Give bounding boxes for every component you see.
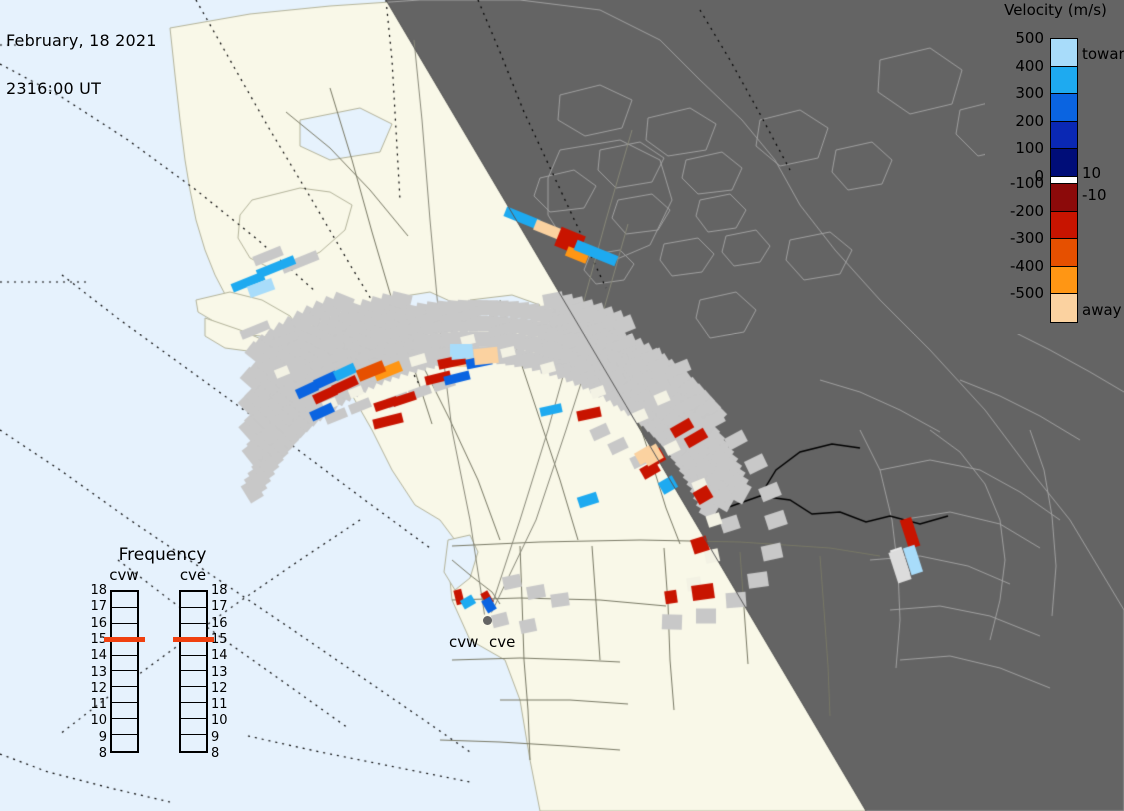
frequency-gauge-segment: [112, 640, 137, 656]
velocity-tick-label: -300: [1010, 231, 1044, 246]
velocity-inner-high-label: 10: [1082, 166, 1101, 181]
velocity-color-band: [1051, 149, 1077, 177]
frequency-gauge-segment: [181, 640, 206, 656]
frequency-gauge-segment: [181, 592, 206, 608]
velocity-tick-label: -500: [1010, 286, 1044, 301]
frequency-scale-tick: 17: [211, 600, 228, 613]
frequency-gauge-segment: [181, 735, 206, 751]
frequency-gauge-segment: [181, 656, 206, 672]
velocity-color-band: [1051, 39, 1077, 67]
frequency-gauge-segment: [181, 719, 206, 735]
velocity-tick-label: 200: [1015, 114, 1044, 129]
frequency-scale-tick: 13: [90, 666, 107, 679]
frequency-scale-tick: 13: [211, 666, 228, 679]
frequency-scale-tick: 8: [99, 747, 107, 760]
timestamp-date: February, 18 2021: [6, 33, 157, 49]
velocity-color-band: [1051, 212, 1077, 240]
frequency-scale-tick: 8: [211, 747, 219, 760]
frequency-scale-tick: 17: [90, 600, 107, 613]
frequency-scale-tick: 11: [211, 698, 228, 711]
frequency-gauge-segment: [181, 703, 206, 719]
frequency-gauge-segment: [112, 592, 137, 608]
velocity-color-band: [1051, 184, 1077, 212]
frequency-gauge-label-cvw: cvw: [101, 568, 147, 583]
frequency-scale-tick: 11: [90, 698, 107, 711]
frequency-scale-tick: 14: [90, 649, 107, 662]
velocity-color-band: [1051, 122, 1077, 150]
velocity-color-band: [1051, 67, 1077, 95]
velocity-color-band: [1051, 294, 1077, 322]
velocity-away-label: away: [1082, 303, 1122, 318]
velocity-tick-label: 500: [1015, 31, 1044, 46]
timestamp-time: 2316:00 UT: [6, 81, 157, 97]
velocity-tick-label: -100: [1010, 176, 1044, 191]
frequency-legend-title: Frequency: [85, 546, 240, 564]
frequency-legend: Frequency cvw cve 18171615141312111098 1…: [85, 546, 240, 791]
velocity-color-band: [1051, 239, 1077, 267]
velocity-legend-title: Velocity (m/s): [987, 2, 1124, 19]
frequency-scale-tick: 16: [90, 617, 107, 630]
station-label-cvw: cvw: [449, 635, 478, 650]
frequency-gauge-segment: [181, 671, 206, 687]
frequency-scale-tick: 18: [211, 584, 228, 597]
radar-map-view: February, 18 2021 2316:00 UT cvw cve Fre…: [0, 0, 1124, 811]
velocity-legend: Velocity (m/s) 5004003002001000-100-200-…: [985, 0, 1124, 334]
velocity-tick-label: -400: [1010, 259, 1044, 274]
frequency-gauge-segment: [112, 671, 137, 687]
frequency-gauge-segment: [112, 608, 137, 624]
frequency-scale-tick: 12: [90, 682, 107, 695]
frequency-gauge-segment: [181, 687, 206, 703]
frequency-scale-tick: 16: [211, 617, 228, 630]
velocity-color-band: [1051, 94, 1077, 122]
frequency-scale-tick: 18: [90, 584, 107, 597]
frequency-gauge-segment: [112, 735, 137, 751]
frequency-scale-tick: 10: [90, 714, 107, 727]
frequency-gauge-segment: [112, 687, 137, 703]
frequency-gauge-segment: [112, 719, 137, 735]
station-label-cve: cve: [489, 635, 515, 650]
frequency-scale-tick: 9: [211, 731, 219, 744]
frequency-marker-cve: [173, 637, 214, 642]
frequency-gauge-cvw[interactable]: [110, 590, 139, 753]
velocity-tick-label: 300: [1015, 86, 1044, 101]
velocity-tick-label: -200: [1010, 204, 1044, 219]
frequency-scale-tick: 10: [211, 714, 228, 727]
velocity-toward-label: toward: [1082, 47, 1124, 62]
velocity-tick-label: 100: [1015, 141, 1044, 156]
frequency-marker-cvw: [104, 637, 145, 642]
frequency-scale-tick: 12: [211, 682, 228, 695]
velocity-color-band: [1051, 267, 1077, 295]
velocity-colorbar[interactable]: [1050, 38, 1078, 323]
frequency-gauge-segment: [112, 703, 137, 719]
frequency-scale-tick: 14: [211, 649, 228, 662]
velocity-inner-low-label: -10: [1082, 188, 1107, 203]
velocity-color-band: [1051, 177, 1077, 184]
timestamp-overlay: February, 18 2021 2316:00 UT: [6, 1, 157, 129]
frequency-gauge-segment: [112, 656, 137, 672]
radar-site-marker[interactable]: [483, 616, 492, 625]
velocity-tick-label: 400: [1015, 59, 1044, 74]
frequency-gauge-cve[interactable]: [179, 590, 208, 753]
frequency-gauge-label-cve: cve: [170, 568, 216, 583]
frequency-gauge-segment: [181, 608, 206, 624]
frequency-scale-tick: 9: [99, 731, 107, 744]
